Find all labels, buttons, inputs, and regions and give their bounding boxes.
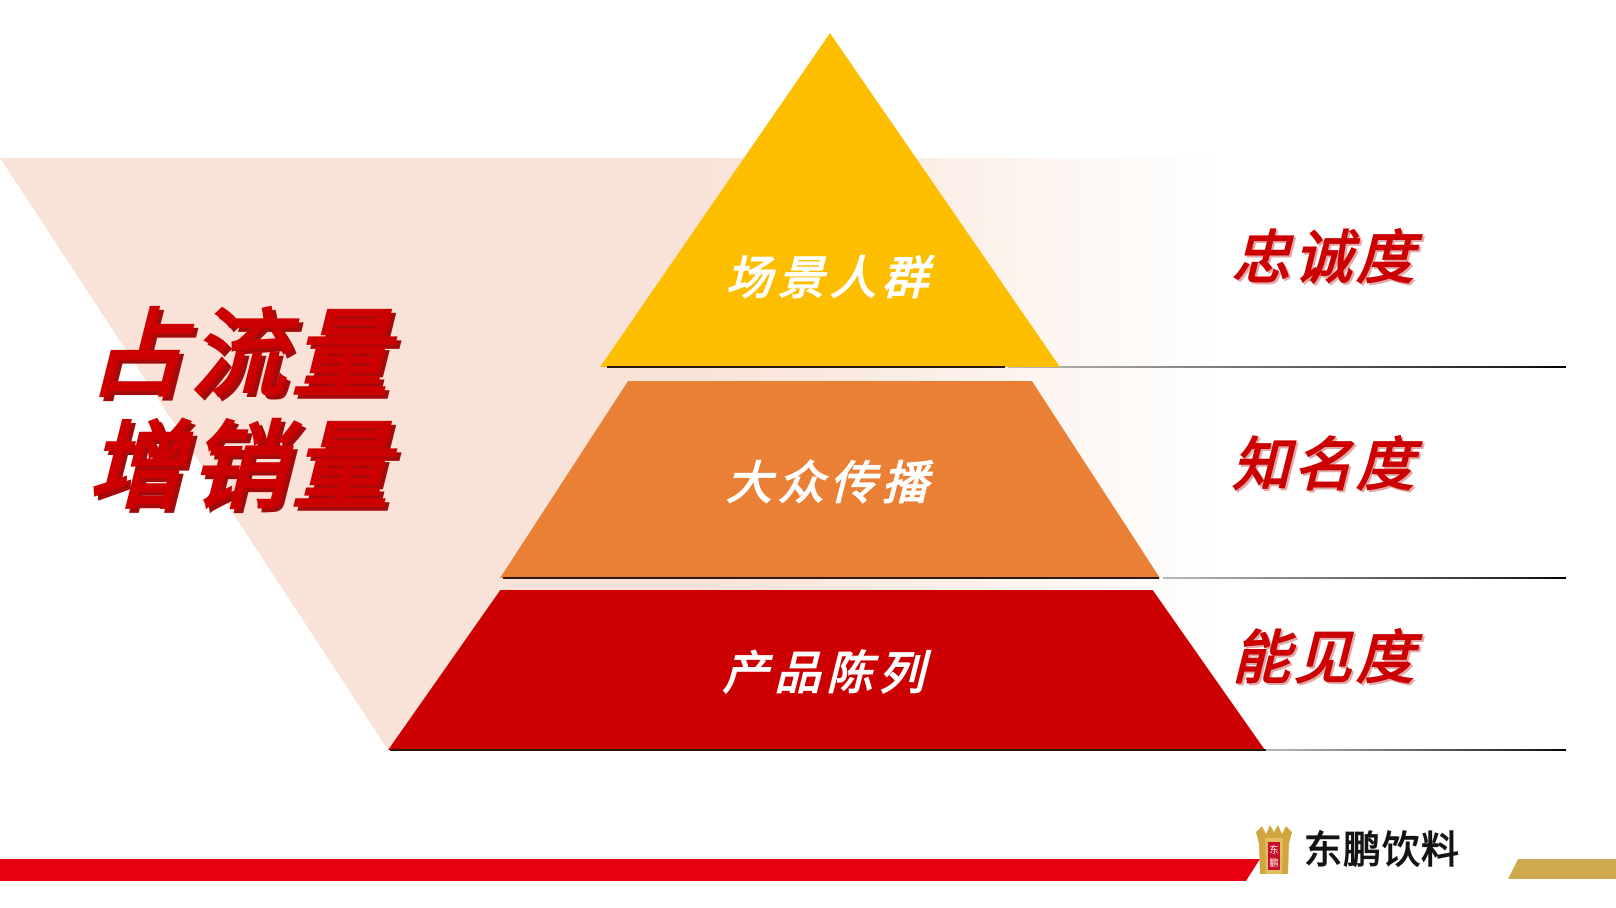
- eastroc-emblem-icon: 东 鹏: [1252, 822, 1296, 880]
- brand-logo-text: 东鹏饮料: [1304, 831, 1460, 871]
- footer-bar-red: [0, 859, 1260, 881]
- slide-canvas: 占流量 增销量 场景人群 大众传播 产品陈列 忠诚度 知名度 能见度: [0, 0, 1616, 908]
- footer-bar-gold: [1508, 859, 1616, 879]
- divider-line-top: [1008, 366, 1566, 368]
- pyramid-tier-bottom-label: 产品陈列: [723, 637, 931, 703]
- pyramid-tier-top-shape: [600, 33, 1060, 367]
- pyramid-tier-top[interactable]: 场景人群: [600, 33, 1060, 367]
- pyramid-tier-top-label: 场景人群: [726, 242, 934, 308]
- pyramid-tier-middle-label: 大众传播: [726, 447, 934, 513]
- svg-text:东: 东: [1269, 844, 1278, 855]
- divider-line-bottom: [1266, 749, 1566, 751]
- divider-line-middle: [1163, 577, 1566, 579]
- brand-logo: 东 鹏 东鹏饮料: [1252, 820, 1460, 882]
- headline-line-1: 占流量: [88, 300, 448, 412]
- headline-block: 占流量 增销量: [88, 300, 448, 524]
- svg-text:鹏: 鹏: [1269, 857, 1278, 868]
- pyramid-tier-bottom[interactable]: 产品陈列: [388, 590, 1265, 750]
- right-label-awareness: 知名度: [1232, 435, 1418, 497]
- right-label-loyalty: 忠诚度: [1232, 228, 1418, 290]
- pyramid-tier-middle[interactable]: 大众传播: [500, 381, 1160, 578]
- right-label-visibility: 能见度: [1232, 628, 1418, 690]
- headline-line-2: 增销量: [88, 412, 448, 524]
